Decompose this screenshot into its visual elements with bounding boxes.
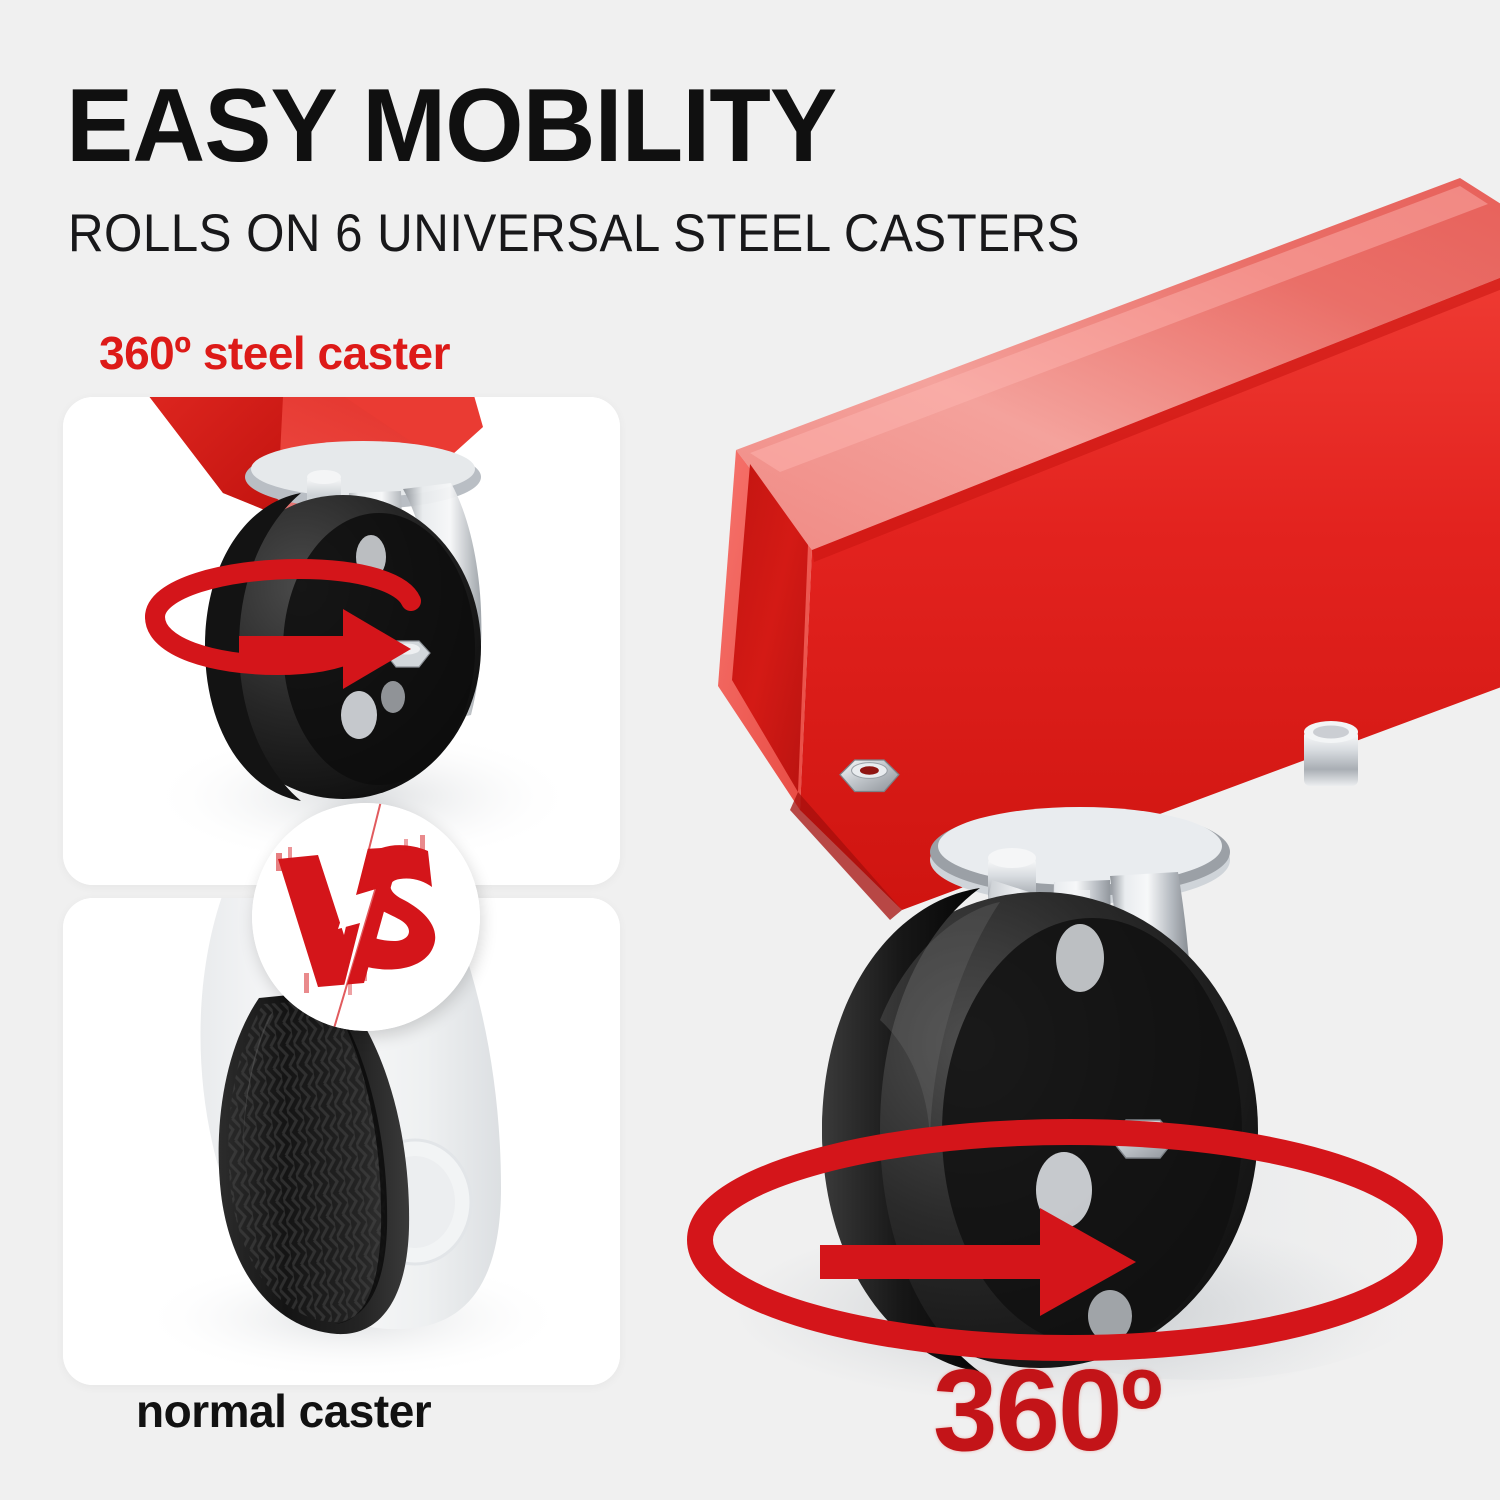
wheel-hole [1056,924,1104,992]
steel-caster-label: 360º steel caster [99,328,450,378]
poster-canvas: EASY MOBILITY ROLLS ON 6 UNIVERSAL STEEL… [0,0,1500,1500]
normal-caster-label: normal caster [136,1386,431,1436]
page-title: EASY MOBILITY [66,74,836,178]
page-subtitle: ROLLS ON 6 UNIVERSAL STEEL CASTERS [68,206,1080,262]
hero-caster-image [640,120,1500,1500]
chrome-post-icon [1304,721,1358,786]
wheel-hole [341,691,377,739]
vs-badge [252,803,480,1031]
rotation-degree-label: 360º [933,1352,1161,1468]
wheel-hole [381,681,405,713]
